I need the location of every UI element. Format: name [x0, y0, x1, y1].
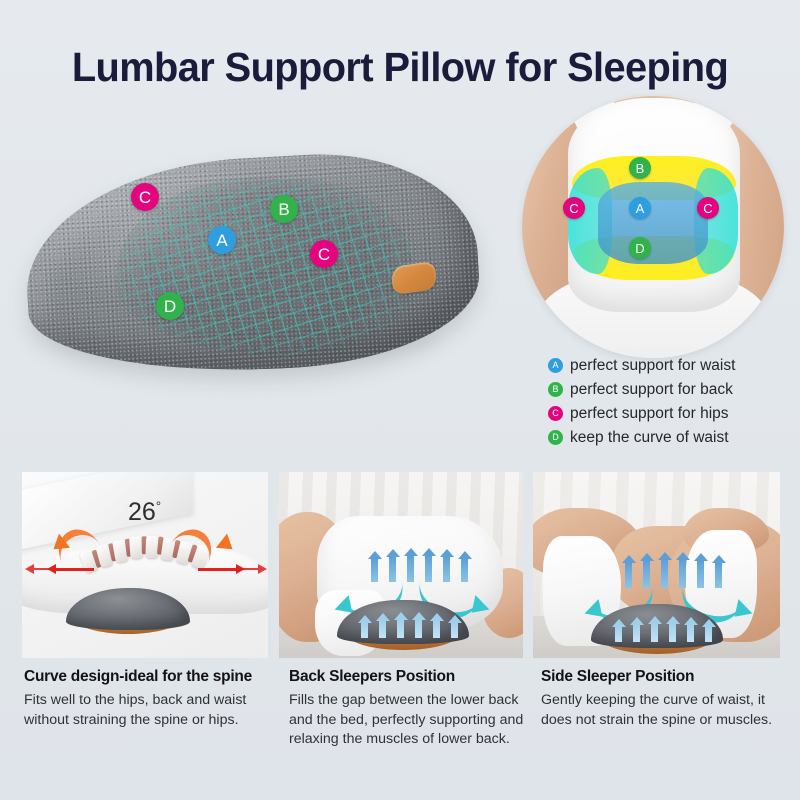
legend-item-b: B perfect support for back — [548, 378, 792, 401]
caption-title: Back Sleepers Position — [289, 668, 533, 686]
panel-curve-design: 26° — [22, 472, 268, 658]
arrow-stretch-right-icon — [198, 568, 236, 571]
pillow-lift-arrow-4-icon — [415, 619, 422, 638]
pillow-marker-c-lower: C — [310, 240, 338, 268]
pillow-marker-d: D — [156, 292, 184, 320]
infographic-page: Lumbar Support Pillow for Sleeping C B A… — [0, 0, 800, 800]
panel-back-sleepers — [279, 472, 523, 658]
pressure-arrow-3-icon — [661, 559, 668, 588]
caption-title: Side Sleeper Position — [541, 668, 791, 686]
legend-item-a: A perfect support for waist — [548, 354, 792, 377]
legend-label-d: keep the curve of waist — [570, 429, 729, 447]
pillow-mesh-pattern — [115, 176, 416, 358]
pillow-lift-arrow-3-icon — [397, 619, 404, 638]
legend-badge-d-icon: D — [548, 430, 563, 445]
angle-label: 26° — [128, 498, 161, 527]
pillow-marker-c-upper: C — [131, 183, 159, 211]
legend-label-c: perfect support for hips — [570, 405, 729, 423]
caption-back-sleepers: Back Sleepers Position Fills the gap bet… — [289, 668, 533, 750]
pillow-lift-arrow-4-icon — [669, 623, 676, 642]
legend-label-a: perfect support for waist — [570, 357, 735, 375]
legend-item-c: C perfect support for hips — [548, 402, 792, 425]
pressure-arrow-3-icon — [407, 555, 414, 582]
pillow-lift-arrow-3-icon — [651, 623, 658, 642]
zone-waist-blue — [598, 182, 708, 264]
arrow-stretch-left-outer-icon — [34, 568, 52, 570]
caption-title: Curve design-ideal for the spine — [24, 668, 274, 686]
pillow-marker-a: A — [208, 226, 236, 254]
back-marker-b: B — [629, 157, 651, 179]
back-anatomy-photo: B C A C D — [522, 96, 784, 358]
angle-value: 26 — [128, 498, 156, 526]
legend-badge-b-icon: B — [548, 382, 563, 397]
legend-label-b: perfect support for back — [570, 381, 733, 399]
legend-badge-a-icon: A — [548, 358, 563, 373]
back-marker-d: D — [629, 237, 651, 259]
caption-body: Gently keeping the curve of waist, it do… — [541, 691, 791, 730]
pillow-lift-arrow-1-icon — [361, 622, 368, 638]
pillow-lift-arrow-6-icon — [705, 626, 712, 642]
pillow-lift-arrow-5-icon — [433, 620, 440, 638]
panel-back-sleepers-image — [279, 472, 523, 658]
back-marker-c-left: C — [563, 197, 585, 219]
arrow-stretch-left-icon — [56, 568, 94, 571]
page-title: Lumbar Support Pillow for Sleeping — [12, 44, 788, 91]
caption-curve-design: Curve design-ideal for the spine Fits we… — [24, 668, 274, 730]
pillow-marker-b: B — [270, 195, 298, 223]
degree-symbol: ° — [156, 499, 161, 514]
legend-badge-c-icon: C — [548, 406, 563, 421]
legend: A perfect support for waist B perfect su… — [548, 354, 792, 450]
pillow-lift-arrow-2-icon — [379, 620, 386, 638]
pillow-lift-arrow-5-icon — [687, 624, 694, 642]
caption-side-sleeper: Side Sleeper Position Gently keeping the… — [541, 668, 791, 730]
back-marker-a: A — [629, 197, 651, 219]
panel-curve-design-image: 26° — [22, 472, 268, 658]
legend-item-d: D keep the curve of waist — [548, 426, 792, 449]
panel1-pillow — [66, 588, 190, 638]
pressure-arrow-6-icon — [461, 558, 468, 582]
pillow-fabric-top — [66, 588, 190, 630]
pillow-lift-arrow-6-icon — [451, 622, 458, 638]
panel-side-sleeper-image — [533, 472, 780, 658]
pillow-lift-arrow-2-icon — [633, 624, 640, 642]
back-marker-c-right: C — [697, 197, 719, 219]
caption-body: Fills the gap between the lower back and… — [289, 691, 533, 750]
panel-side-sleeper — [533, 472, 780, 658]
caption-body: Fits well to the hips, back and waist wi… — [24, 691, 274, 730]
pillow-lift-arrow-1-icon — [615, 626, 622, 642]
arrow-stretch-right-outer-icon — [240, 568, 258, 570]
